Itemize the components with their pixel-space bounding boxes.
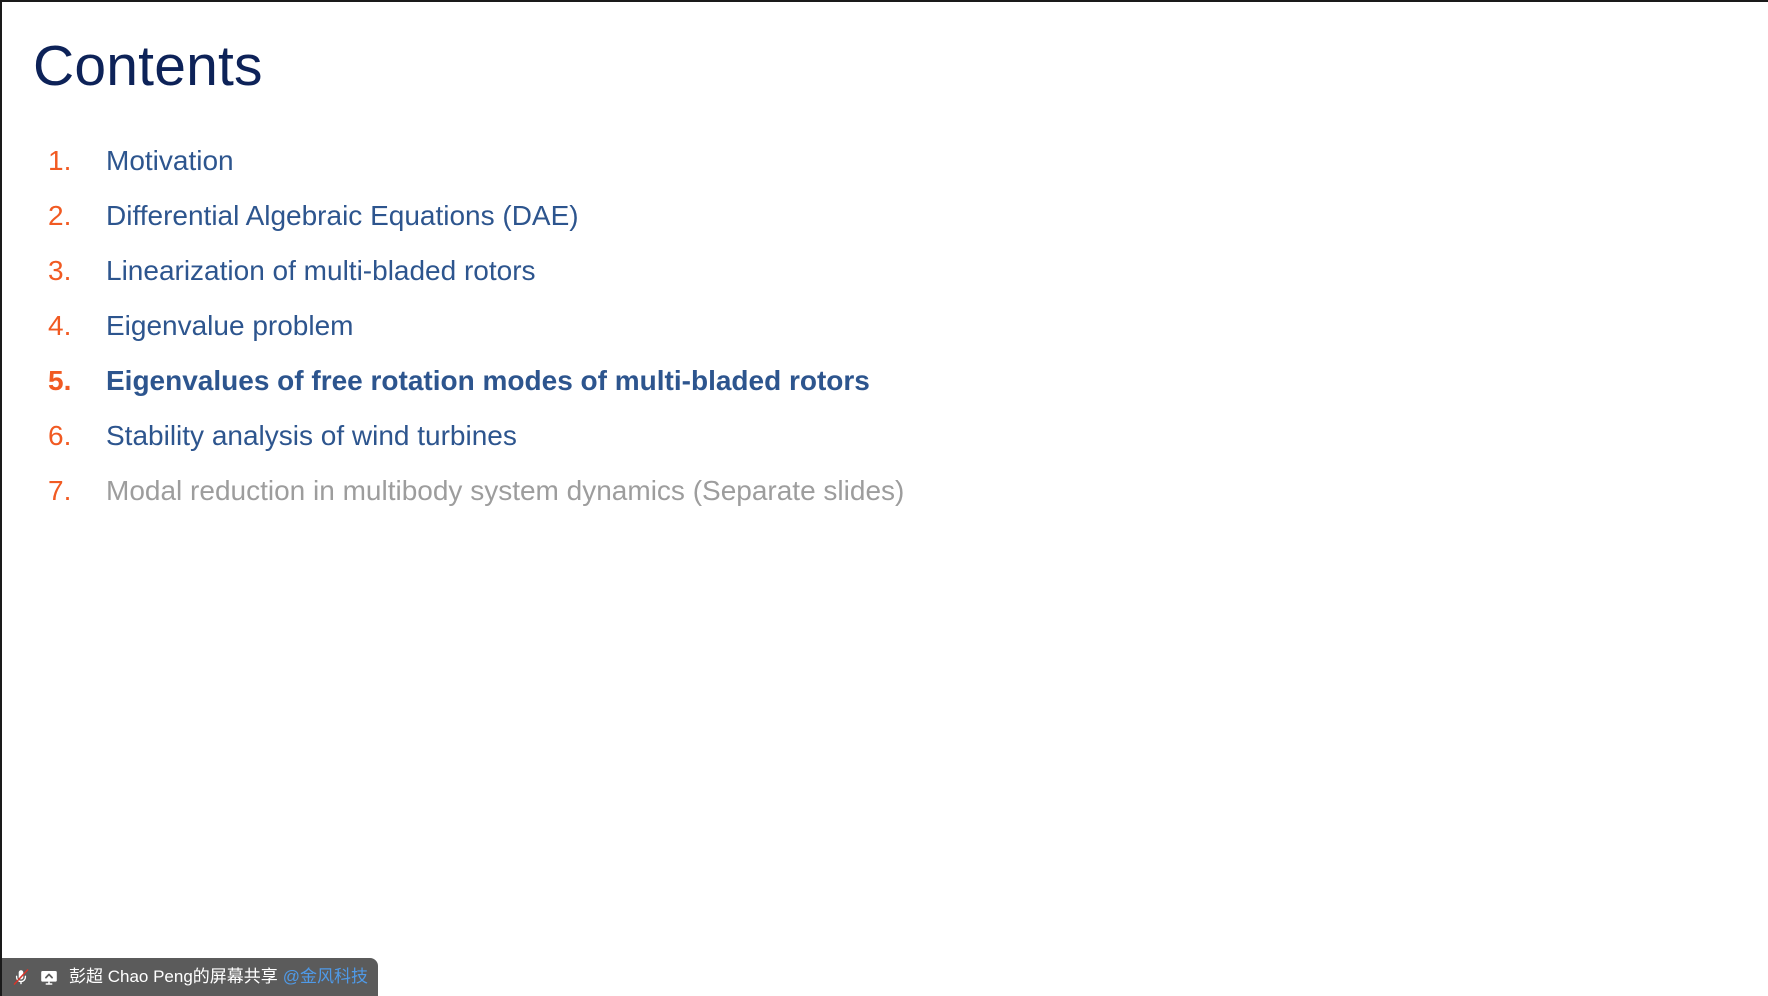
list-item-dimmed[interactable]: 7. Modal reduction in multibody system d… bbox=[2, 474, 1768, 529]
share-org-label: @金风科技 bbox=[283, 966, 368, 988]
list-item[interactable]: 4. Eigenvalue problem bbox=[2, 309, 1768, 364]
list-item-label: Eigenvalues of free rotation modes of mu… bbox=[106, 364, 870, 398]
list-item-label: Eigenvalue problem bbox=[106, 309, 354, 343]
microphone-muted-icon[interactable] bbox=[10, 966, 32, 988]
slide-canvas: Contents 1. Motivation 2. Differential A… bbox=[0, 0, 1768, 996]
list-item[interactable]: 1. Motivation bbox=[2, 144, 1768, 199]
contents-list: 1. Motivation 2. Differential Algebraic … bbox=[2, 144, 1768, 529]
list-item-label: Modal reduction in multibody system dyna… bbox=[106, 474, 904, 508]
screen-share-status-bar[interactable]: 彭超 Chao Peng的屏幕共享 @金风科技 bbox=[2, 958, 378, 996]
list-item-label: Motivation bbox=[106, 144, 234, 178]
list-item-number: 2. bbox=[48, 199, 106, 233]
list-item[interactable]: 2. Differential Algebraic Equations (DAE… bbox=[2, 199, 1768, 254]
list-item-number: 3. bbox=[48, 254, 106, 288]
list-item[interactable]: 3. Linearization of multi-bladed rotors bbox=[2, 254, 1768, 309]
list-item-number: 7. bbox=[48, 474, 106, 508]
screen-share-icon[interactable] bbox=[38, 966, 60, 988]
page-title: Contents bbox=[33, 30, 263, 102]
list-item-number: 1. bbox=[48, 144, 106, 178]
list-item-label: Linearization of multi-bladed rotors bbox=[106, 254, 536, 288]
list-item[interactable]: 6. Stability analysis of wind turbines bbox=[2, 419, 1768, 474]
list-item-label: Differential Algebraic Equations (DAE) bbox=[106, 199, 579, 233]
list-item-number: 5. bbox=[48, 364, 106, 398]
list-item-number: 4. bbox=[48, 309, 106, 343]
list-item-label: Stability analysis of wind turbines bbox=[106, 419, 517, 453]
share-owner-label: 彭超 Chao Peng的屏幕共享 bbox=[69, 966, 278, 988]
list-item-number: 6. bbox=[48, 419, 106, 453]
list-item-highlighted[interactable]: 5. Eigenvalues of free rotation modes of… bbox=[2, 364, 1768, 419]
